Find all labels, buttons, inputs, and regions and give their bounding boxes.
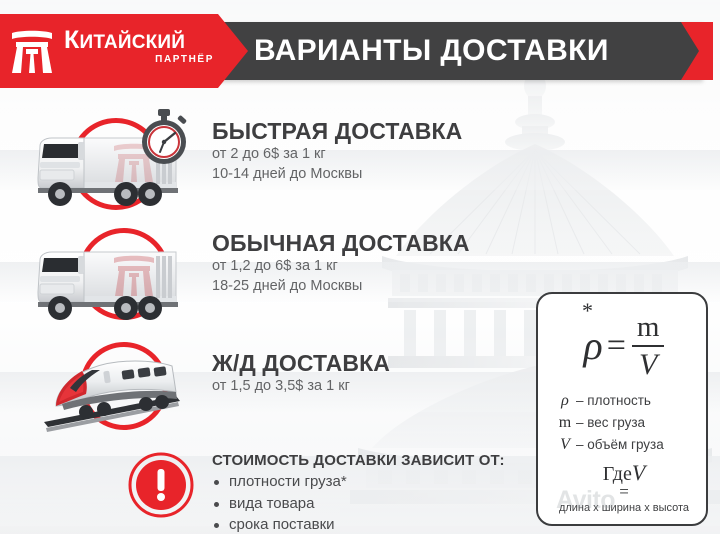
delivery-option-text-regular: ОБЫЧНАЯ ДОСТАВКА от 1,2 до 6$ за 1 кг 18… — [212, 230, 542, 296]
where-equals-sign: = — [538, 485, 710, 498]
cost-factor-item: вида товара — [212, 493, 532, 515]
delivery-option-text-rail: Ж/Д ДОСТАВКА от 1,5 до 3,5$ за 1 кг — [212, 350, 542, 396]
density-formula: ρ = m V — [538, 308, 710, 384]
delivery-option-price: от 2 до 6$ за 1 кг — [212, 144, 542, 164]
cost-factors-title: СТОИМОСТЬ ДОСТАВКИ ЗАВИСИТ ОТ: — [212, 450, 532, 471]
brand-name: КИТАЙСКИЙ — [64, 30, 214, 53]
cost-factors-text: СТОИМОСТЬ ДОСТАВКИ ЗАВИСИТ ОТ: плотности… — [212, 450, 532, 534]
volume-dimensions: длина x ширина x высота — [538, 500, 710, 516]
where-symbol: V — [632, 460, 645, 485]
cost-factor-item: плотности груза* — [212, 471, 532, 493]
legend-row: ρ – плотность — [554, 390, 700, 412]
delivery-option-title: Ж/Д ДОСТАВКА — [212, 350, 542, 376]
formula-denominator: V — [632, 350, 665, 380]
legend-symbol: ρ — [554, 390, 576, 412]
density-formula-card: * ρ = m V ρ – плотность m – вес груза V … — [536, 292, 708, 526]
legend-description: – объём груза — [576, 434, 664, 456]
legend-symbol: V — [554, 434, 576, 456]
legend-description: – плотность — [576, 390, 651, 412]
train-icon — [26, 336, 206, 440]
delivery-option-text-fast: БЫСТРАЯ ДОСТАВКА от 2 до 6$ за 1 кг 10-1… — [212, 118, 542, 184]
brand-subtitle: ПАРТНЁР — [64, 54, 214, 65]
brand-red-banner: КИТАЙСКИЙ ПАРТНЁР — [0, 14, 248, 88]
delivery-options-poster: КИТАЙСКИЙ ПАРТНЁР ВАРИАНТЫ ДОСТАВКИ — [0, 0, 720, 534]
legend-row: m – вес груза — [554, 412, 700, 434]
delivery-option-duration: 10-14 дней до Москвы — [212, 164, 542, 184]
formula-fraction: m V — [632, 313, 665, 380]
brand-logo-text: КИТАЙСКИЙ ПАРТНЁР — [64, 30, 214, 65]
delivery-option-title: ОБЫЧНАЯ ДОСТАВКА — [212, 230, 542, 256]
delivery-option-price: от 1,2 до 6$ за 1 кг — [212, 256, 542, 276]
fraction-bar — [632, 345, 665, 347]
legend-description: – вес груза — [576, 412, 645, 434]
brand-name-rest: ИТАЙСКИЙ — [79, 32, 185, 53]
page-title: ВАРИАНТЫ ДОСТАВКИ — [254, 34, 674, 68]
poster-header: КИТАЙСКИЙ ПАРТНЁР ВАРИАНТЫ ДОСТАВКИ — [0, 14, 720, 88]
legend-symbol: m — [554, 412, 576, 434]
brand-name-initial: К — [64, 26, 79, 54]
volume-definition: ГдеV = длина x ширина x высота — [538, 462, 710, 516]
truck-with-stopwatch-icon — [26, 112, 206, 216]
truck-icon — [26, 224, 206, 328]
torii-gate-icon — [8, 28, 56, 76]
cost-factor-item: срока поставки — [212, 514, 532, 534]
legend-row: V – объём груза — [554, 434, 700, 456]
formula-rho-symbol: ρ — [584, 326, 603, 366]
formula-equals-sign: = — [607, 329, 626, 363]
formula-legend: ρ – плотность m – вес груза V – объём гр… — [554, 390, 700, 456]
formula-numerator: m — [632, 313, 665, 342]
delivery-option-title: БЫСТРАЯ ДОСТАВКА — [212, 118, 542, 144]
delivery-option-duration: 18-25 дней до Москвы — [212, 276, 542, 296]
brand-logo[interactable]: КИТАЙСКИЙ ПАРТНЁР — [8, 30, 208, 74]
exclamation-circle-icon — [128, 452, 194, 518]
delivery-option-price: от 1,5 до 3,5$ за 1 кг — [212, 376, 542, 396]
